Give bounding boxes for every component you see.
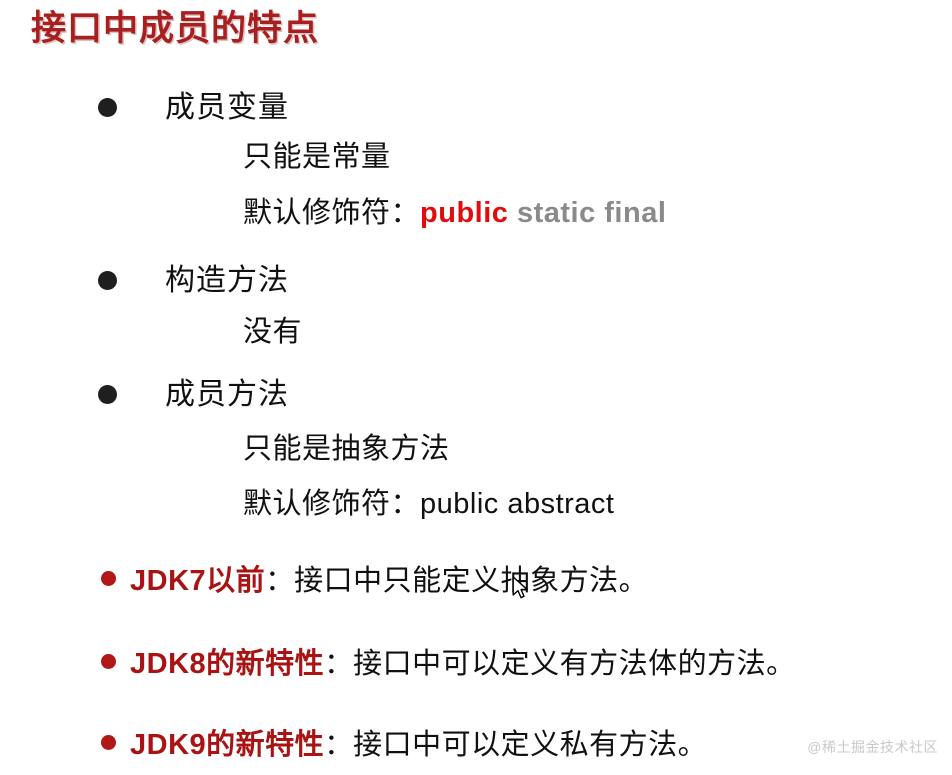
- page-title: 接口中成员的特点: [31, 9, 319, 49]
- modifier-static-final: static final: [508, 197, 666, 229]
- jdk-note-separator: ：: [265, 557, 294, 599]
- jdk-note-text: 接口中可以定义私有方法。: [353, 721, 707, 763]
- slide-canvas: 接口中成员的特点 成员变量 只能是常量 默认修饰符：public static …: [0, 0, 952, 775]
- jdk-note-key: JDK9的新特性: [130, 721, 324, 763]
- jdk-note-key: JDK8的新特性: [130, 640, 324, 682]
- modifier-public: public: [420, 197, 508, 229]
- detail-line-default-modifier-method: 默认修饰符：public abstract: [243, 489, 615, 521]
- bullet-icon: [98, 385, 117, 404]
- detail-line-none: 没有: [243, 317, 302, 349]
- jdk-note-separator: ：: [324, 640, 353, 682]
- list-item-constructor: 构造方法: [98, 264, 289, 297]
- detail-line-abstract-only: 只能是抽象方法: [243, 434, 450, 466]
- watermark: @稀土掘金技术社区: [807, 737, 938, 757]
- bullet-icon: [101, 735, 116, 750]
- list-item-label: 成员变量: [165, 91, 289, 124]
- list-item-member-method: 成员方法: [98, 378, 289, 411]
- bullet-icon: [101, 571, 116, 586]
- jdk-note-separator: ：: [324, 721, 353, 763]
- bullet-icon: [98, 98, 117, 117]
- jdk-note-jdk7: JDK7以前：接口中只能定义抽象方法。: [101, 557, 648, 599]
- jdk-note-text: 接口中可以定义有方法体的方法。: [353, 640, 796, 682]
- bullet-icon: [98, 271, 117, 290]
- list-item-label: 构造方法: [165, 264, 289, 297]
- detail-line-default-modifier-field: 默认修饰符：public static final: [243, 198, 666, 230]
- detail-line-constant-only: 只能是常量: [243, 142, 391, 174]
- jdk-note-key: JDK7以前: [130, 557, 265, 599]
- bullet-icon: [101, 654, 116, 669]
- list-item-label: 成员方法: [165, 378, 289, 411]
- jdk-note-jdk9: JDK9的新特性：接口中可以定义私有方法。: [101, 721, 707, 763]
- list-item-member-variable: 成员变量: [98, 91, 289, 124]
- jdk-note-jdk8: JDK8的新特性：接口中可以定义有方法体的方法。: [101, 640, 796, 682]
- jdk-note-text: 接口中只能定义抽象方法。: [294, 557, 648, 599]
- detail-prefix: 默认修饰符：: [243, 197, 420, 229]
